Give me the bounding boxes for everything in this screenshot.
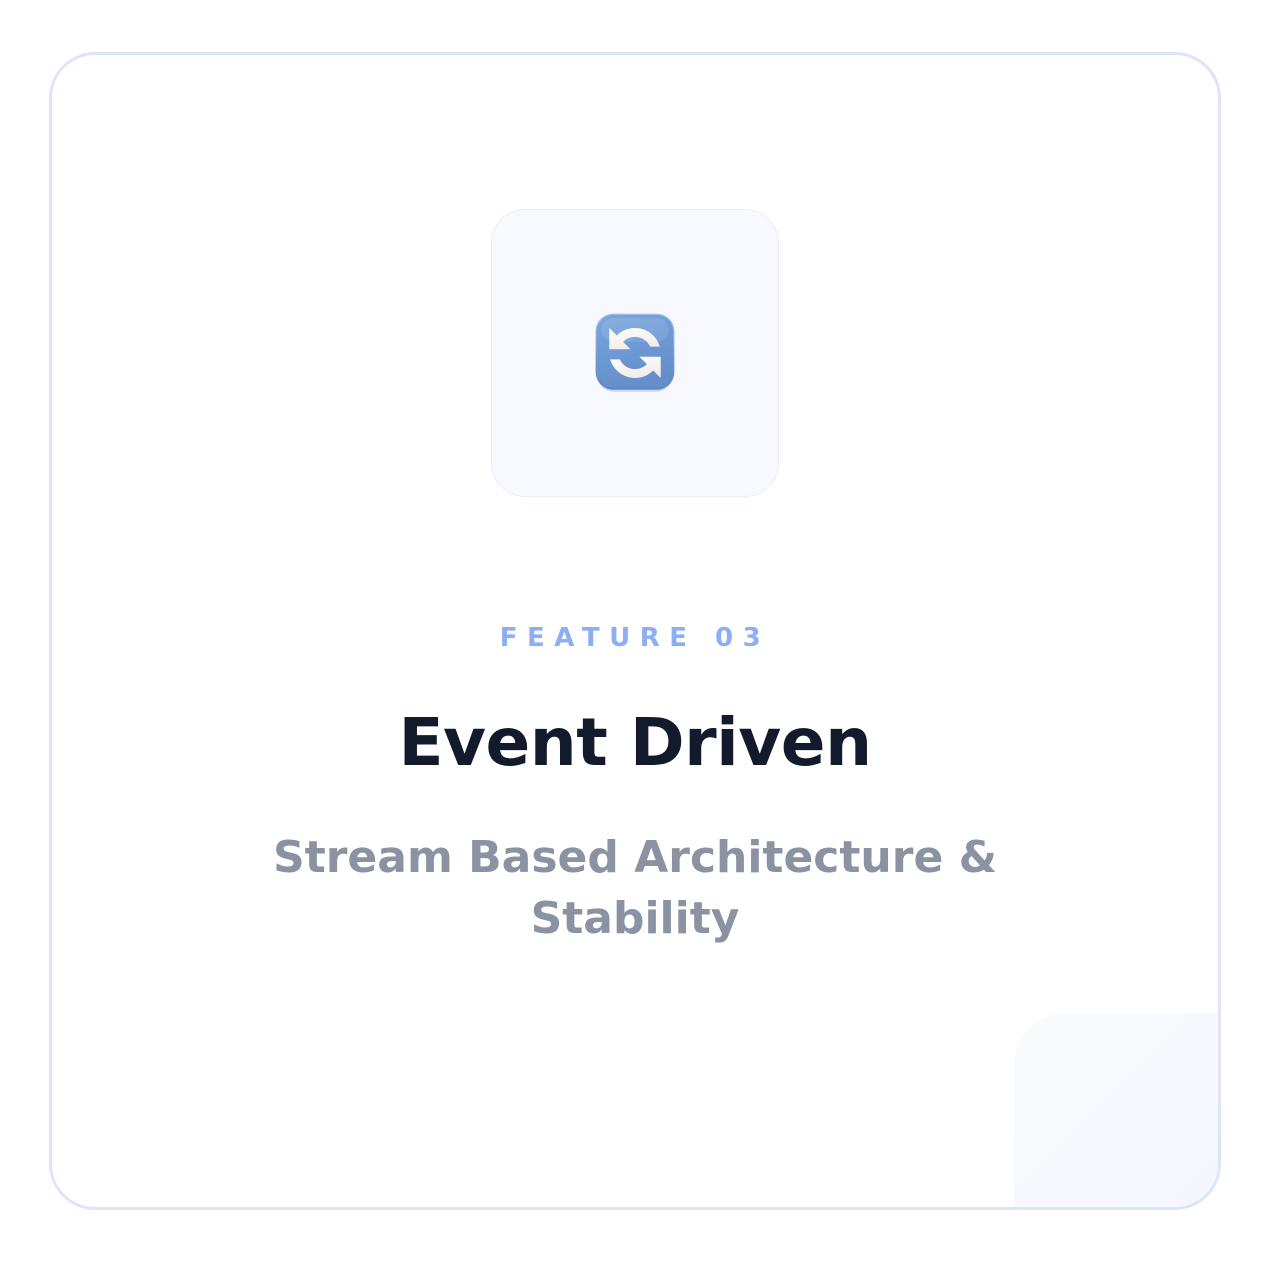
feature-card-inner: FEATURE 03 Event Driven Stream Based Arc… (52, 55, 1218, 1207)
feature-text-block: FEATURE 03 Event Driven Stream Based Arc… (52, 625, 1218, 950)
feature-icon-tile (491, 209, 779, 497)
feature-title: Event Driven (112, 707, 1158, 778)
feature-subtitle: Stream Based Architecture & Stability (185, 828, 1085, 949)
page-root: FEATURE 03 Event Driven Stream Based Arc… (0, 0, 1280, 1262)
refresh-arrows-icon (590, 308, 680, 398)
feature-card[interactable]: FEATURE 03 Event Driven Stream Based Arc… (49, 52, 1221, 1210)
feature-eyebrow-label: FEATURE 03 (112, 625, 1158, 651)
